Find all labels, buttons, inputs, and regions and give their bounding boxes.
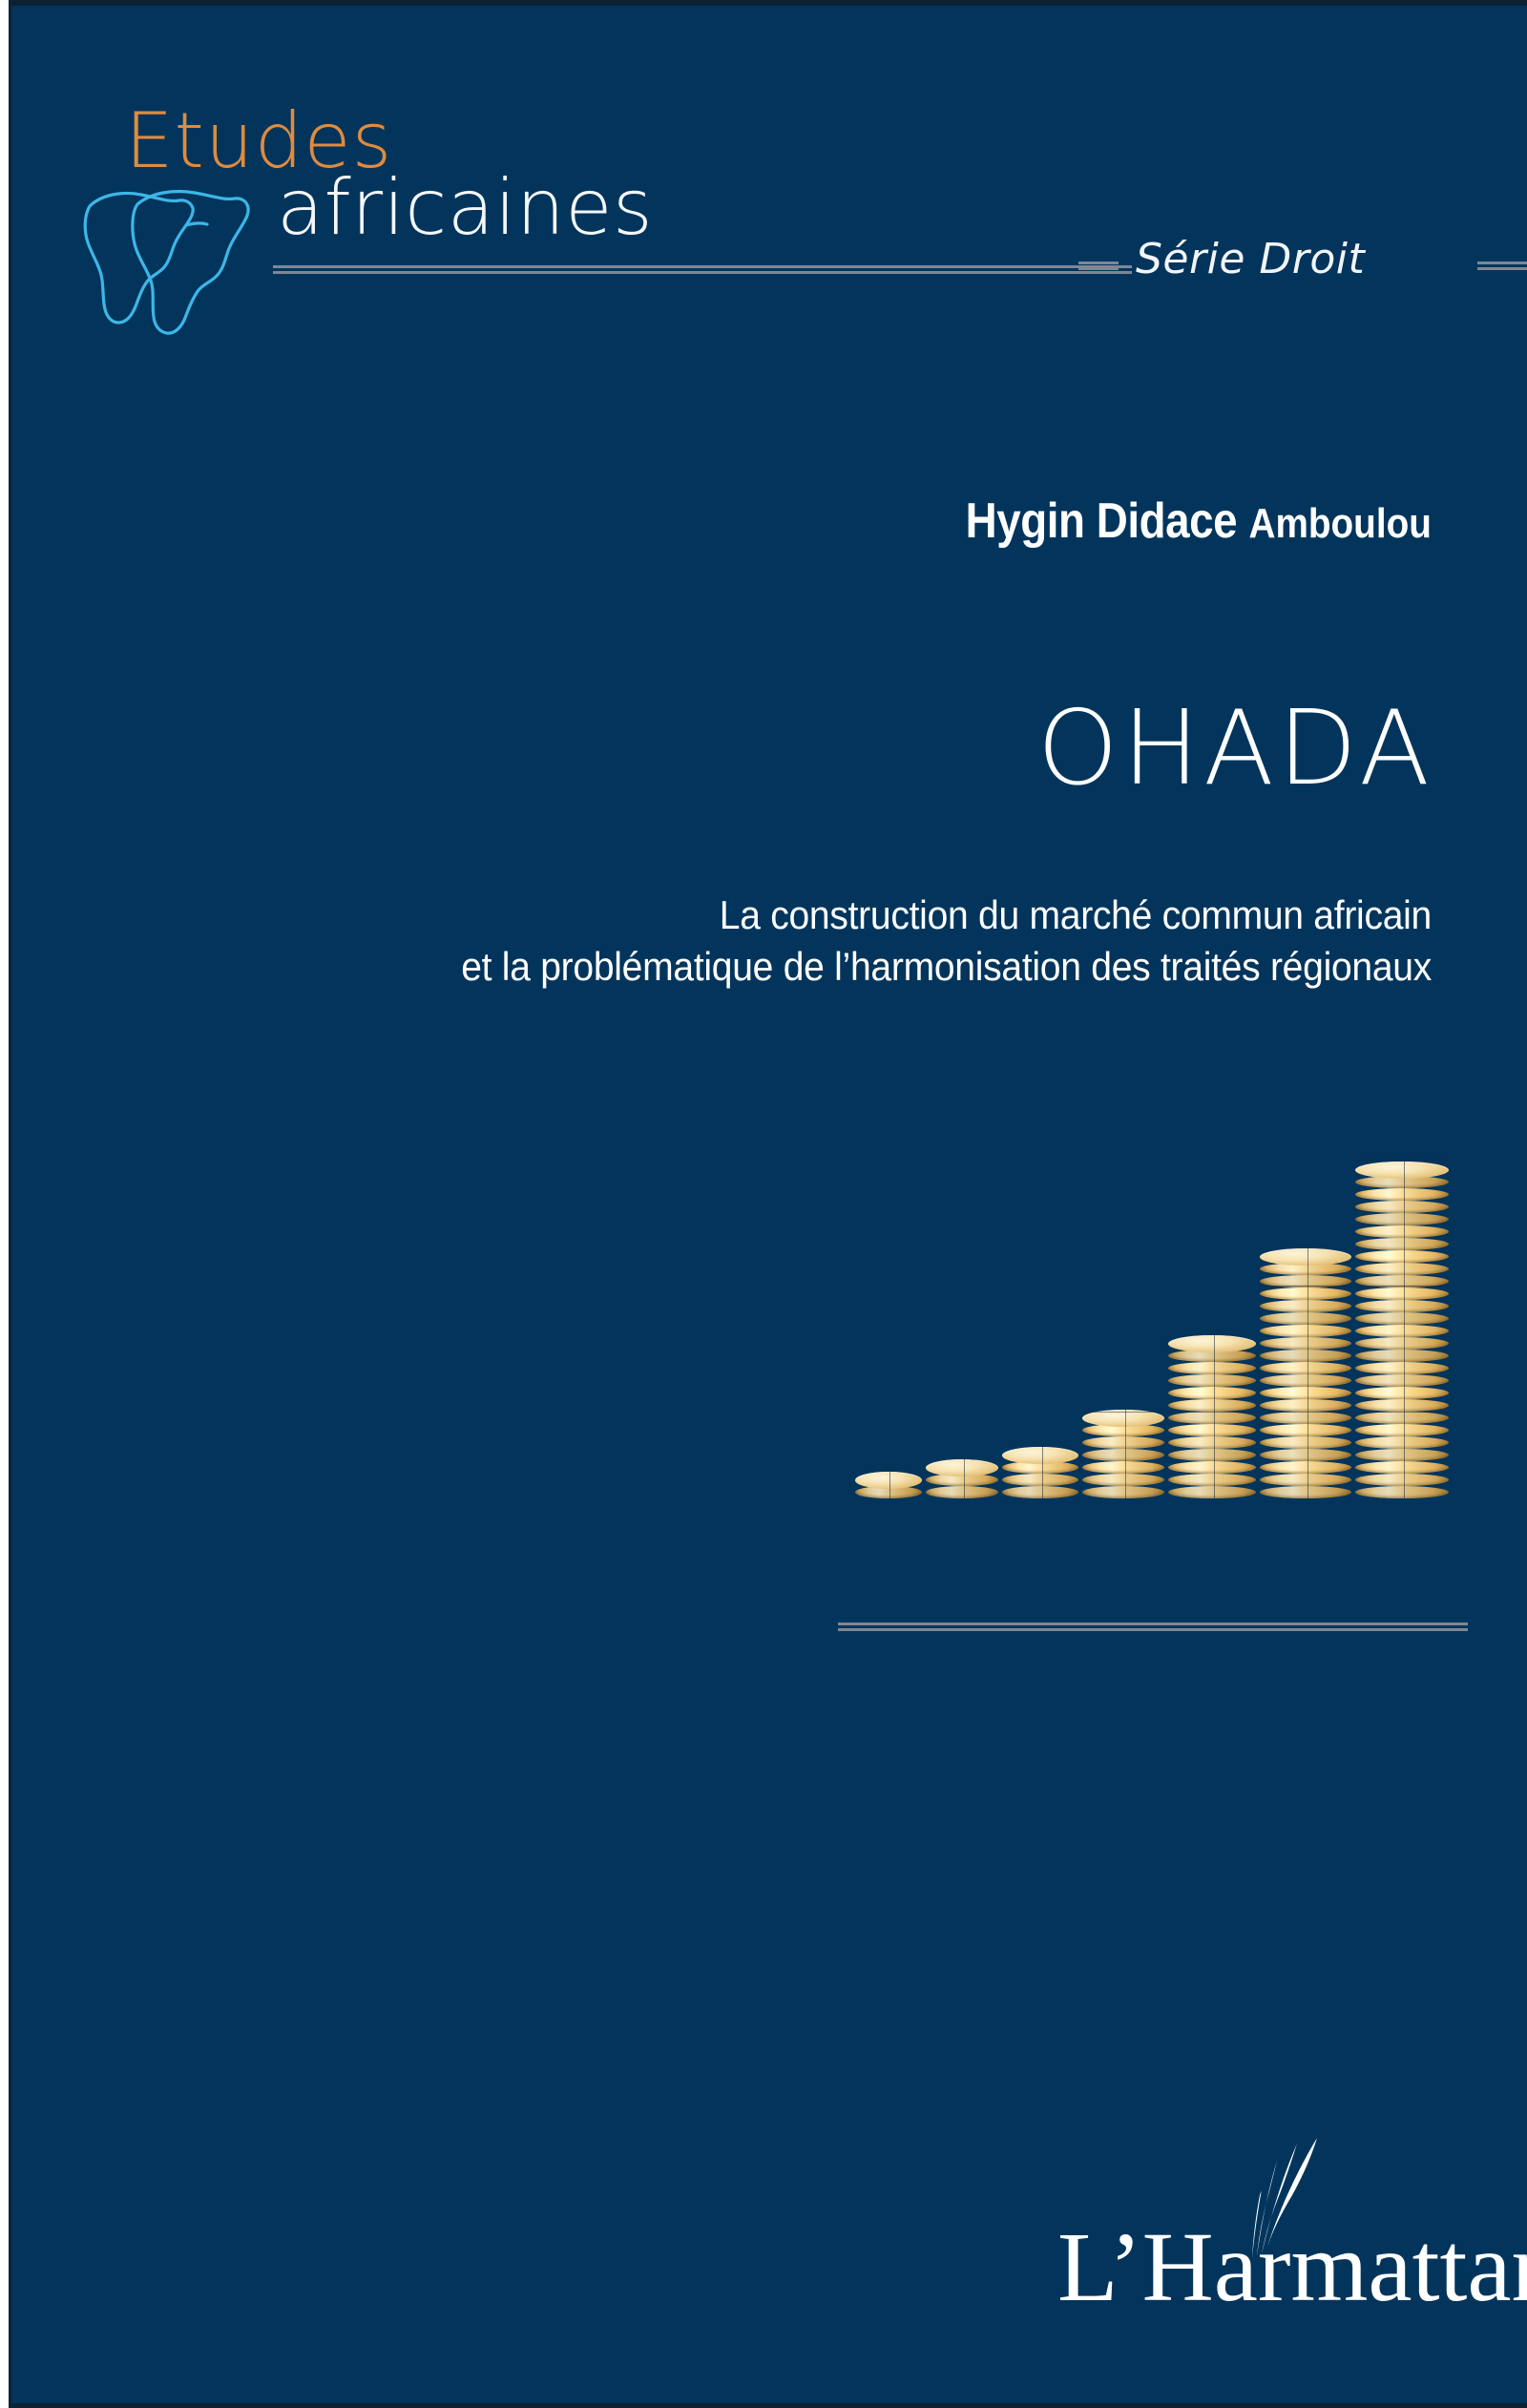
coin-top-face — [1168, 1335, 1256, 1352]
publisher-logo: L’Harmattan — [1057, 2131, 1458, 2317]
author-given-name: Hygin Didace — [966, 493, 1238, 549]
series-rule-left — [1078, 262, 1119, 270]
coin-stack — [1168, 1332, 1256, 1498]
bottom-edge-rule — [0, 2403, 1527, 2408]
series-block: Série Droit — [1078, 235, 1527, 292]
top-edge-rule — [0, 0, 1527, 6]
coin-stacks-illustration — [819, 1098, 1449, 1498]
series-rule-right — [1477, 262, 1527, 270]
author-name: Hygin Didace Amboulou — [966, 492, 1432, 550]
page-title: OHADA — [1037, 693, 1433, 806]
subtitle-line-2: et la problématique de l’harmonisation d… — [189, 941, 1432, 993]
author-family-name: Amboulou — [1249, 500, 1432, 547]
left-gutter — [0, 0, 9, 2408]
series-label: Série Droit — [1136, 235, 1365, 283]
coin-stack — [1082, 1407, 1164, 1498]
africa-map-icon — [73, 179, 254, 337]
coin-stack — [926, 1456, 998, 1498]
coin-stack — [1260, 1246, 1351, 1498]
coin-stack — [1355, 1159, 1449, 1498]
coin-top-face — [1260, 1248, 1351, 1266]
masthead-divider — [273, 265, 1132, 274]
book-subtitle: La construction du marché commun africai… — [95, 890, 1432, 993]
coin-top-face — [1355, 1162, 1449, 1179]
coin-top-face — [1002, 1447, 1078, 1464]
coin-top-face — [926, 1459, 998, 1476]
coin-top-face — [855, 1472, 922, 1489]
left-edge-rule — [9, 0, 11, 2408]
subtitle-line-1: La construction du marché commun africai… — [189, 890, 1432, 941]
coin-stack — [1002, 1444, 1078, 1498]
collection-title-line2: africaines — [277, 170, 653, 246]
collection-masthead: Etudes africaines Série Droit — [0, 0, 1527, 305]
publisher-name: L’Harmattan — [1057, 2218, 1527, 2317]
book-cover: Etudes africaines Série Droit Hygin Dida… — [0, 0, 1527, 2408]
coin-stack — [855, 1469, 922, 1498]
cover-art-divider — [838, 1623, 1468, 1631]
